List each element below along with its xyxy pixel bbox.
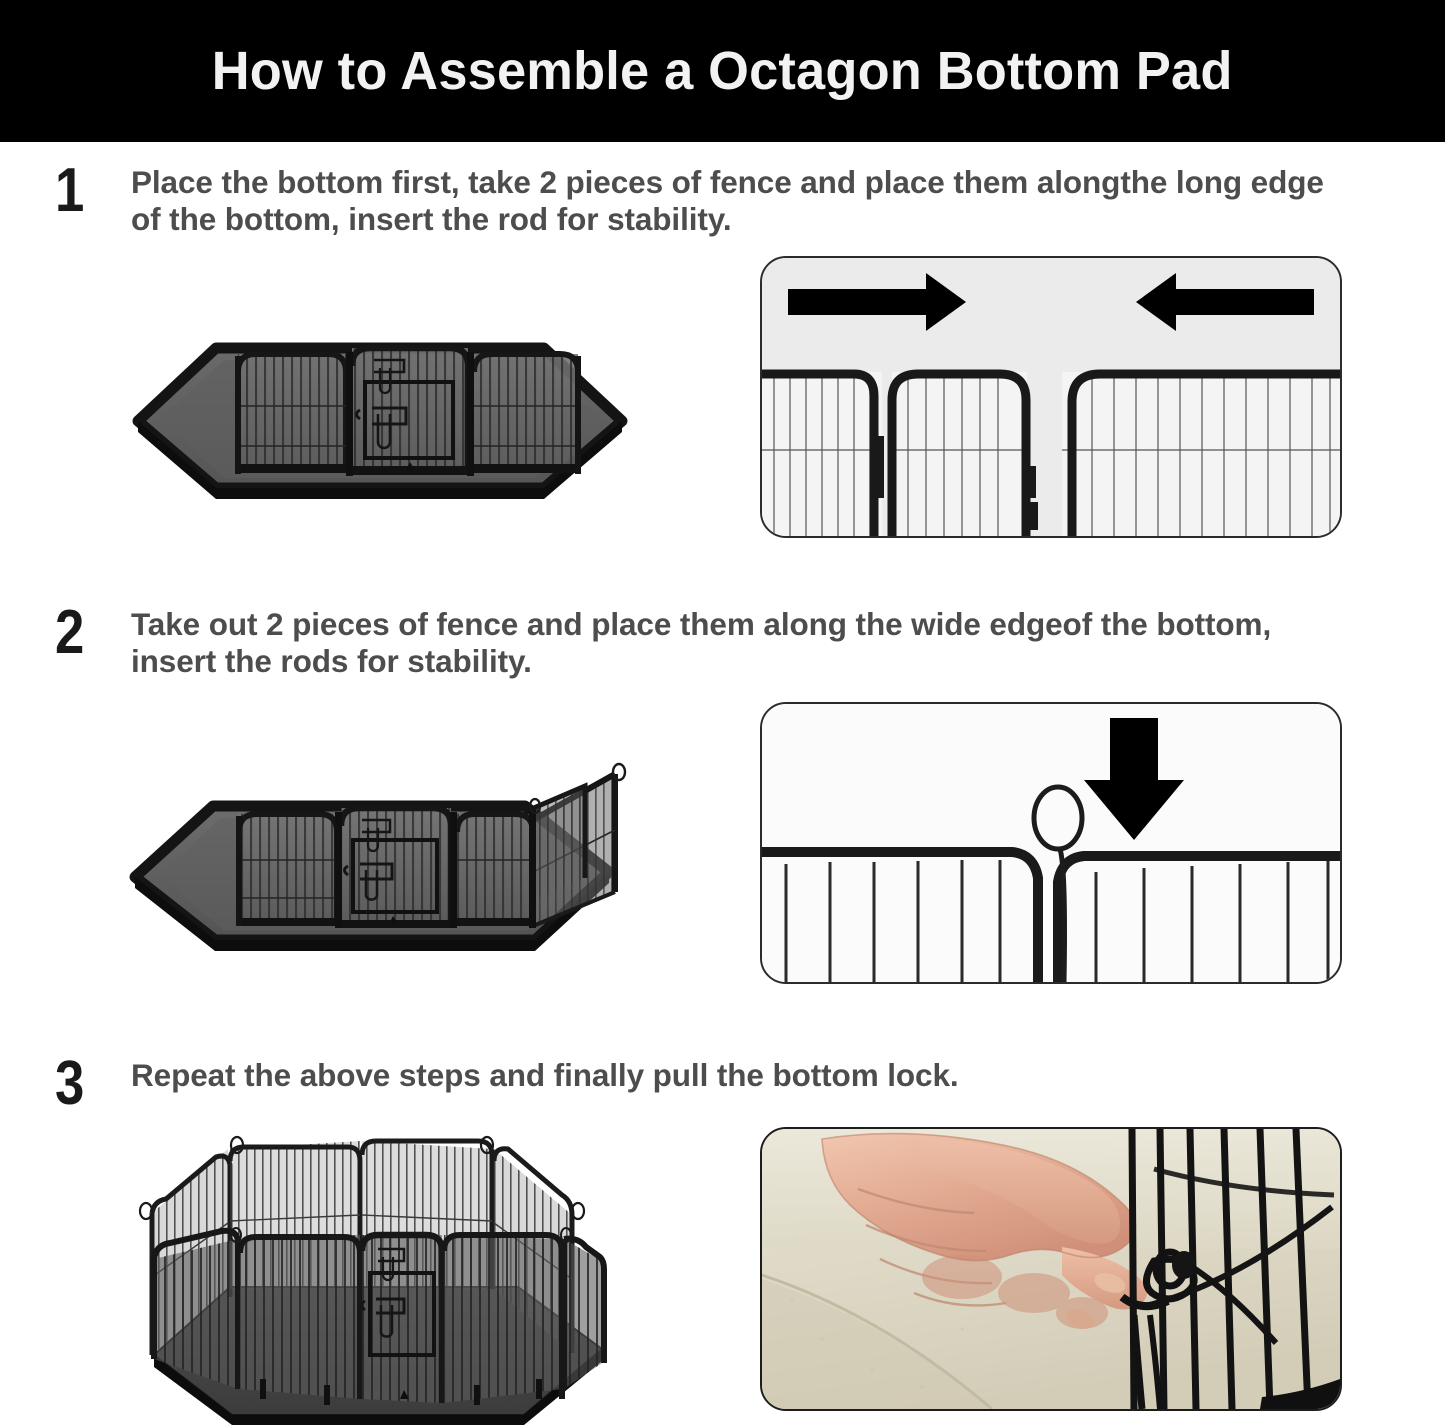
photo-hand-pulling-lock [762,1129,1340,1409]
fully-assembled-octagon-playpen [110,1127,650,1427]
fence-section-right [1062,372,1340,536]
octagon-pad-with-four-fence-panels [115,702,645,967]
step-3-detail-wrap [760,1127,1360,1411]
detail-diagram-panels-joining [762,258,1340,536]
fence-panel-back-right [457,814,533,926]
step-3-illustration-wrap [0,1127,760,1427]
step-2-illustration-wrap [0,702,760,967]
step-3-header: 3 Repeat the above steps and finally pul… [0,1047,1445,1115]
detail-diagram-rod-insert [762,704,1340,982]
step-1-text: Place the bottom first, take 2 pieces of… [131,160,1361,238]
front-panels [154,1228,604,1405]
step-1-detail-wrap [760,256,1360,538]
fence-section-middle [892,372,1038,536]
step-2-detail-wrap [760,702,1360,984]
step-1-body [0,256,1445,538]
step-1: 1 Place the bottom first, take 2 pieces … [0,142,1445,592]
fence-panel-back-left [239,814,337,926]
octagon-pad-with-two-fence-panels [120,256,640,506]
page-title: How to Assemble a Octagon Bottom Pad [212,40,1233,102]
step-2-text: Take out 2 pieces of fence and place the… [131,602,1361,680]
fence-gate-panel [352,348,468,475]
step-2-body [0,702,1445,984]
fence-gate-panel-2 [341,808,451,928]
fence-section-left [762,372,884,536]
step-1-illustration-wrap [0,256,760,506]
fence-panel-left [238,354,346,473]
title-bar: How to Assemble a Octagon Bottom Pad [0,0,1445,142]
step-3-number: 3 [55,1053,120,1115]
fence-panel-right [474,354,578,473]
rod-insert-between-panels-detail [760,702,1342,984]
step-3-body [0,1127,1445,1427]
step-3: 3 Repeat the above steps and finally pul… [0,1047,1445,1407]
step-2-header: 2 Take out 2 pieces of fence and place t… [0,592,1445,680]
two-panels-pushed-together-detail [760,256,1342,538]
step-2: 2 Take out 2 pieces of fence and place t… [0,592,1445,1047]
step-1-header: 1 Place the bottom first, take 2 pieces … [0,142,1445,238]
step-3-text: Repeat the above steps and finally pull … [131,1053,959,1094]
step-1-number: 1 [55,160,120,222]
step-2-number: 2 [55,602,120,664]
hand-pulling-bottom-lock-photo [760,1127,1342,1411]
